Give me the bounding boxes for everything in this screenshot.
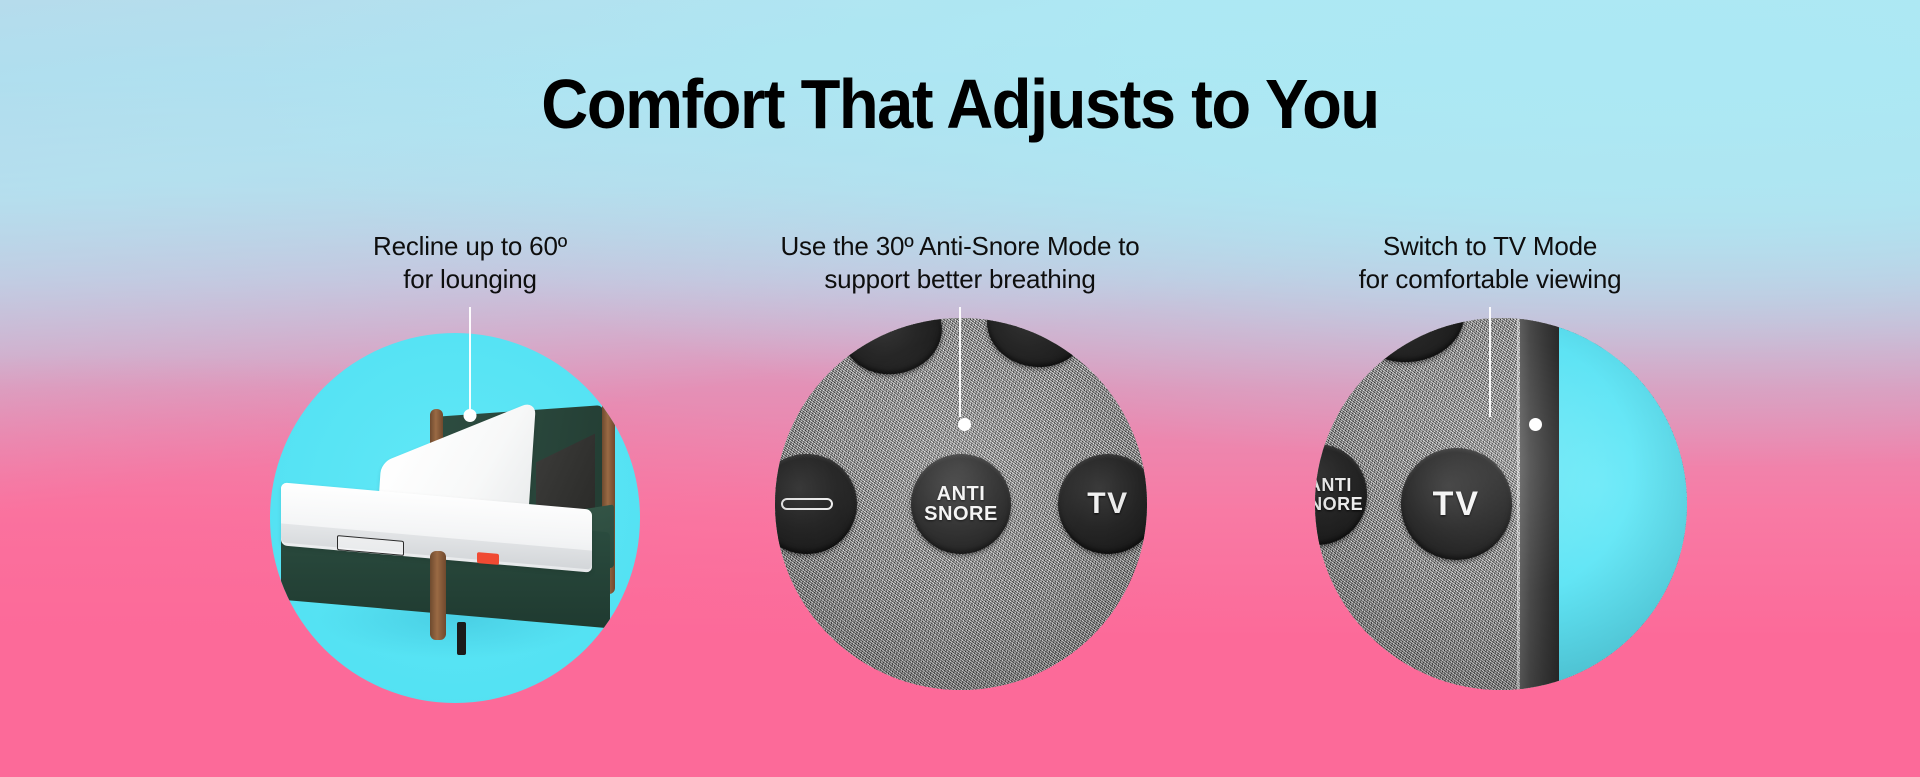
feature-panel-recline: Recline up to 60º for lounging bbox=[210, 230, 730, 417]
feature-caption-tv-mode: Switch to TV Mode for comfortable viewin… bbox=[1359, 230, 1622, 297]
pointer-line-recline bbox=[469, 307, 472, 417]
feature-caption-recline: Recline up to 60º for lounging bbox=[373, 230, 567, 297]
pointer-line bbox=[469, 307, 471, 417]
page-title: Comfort That Adjusts to You bbox=[67, 68, 1853, 142]
pointer-dot bbox=[464, 409, 477, 422]
pointer-line bbox=[959, 307, 961, 417]
feature-panel-tv-mode: Switch to TV Mode for comfortable viewin… bbox=[1230, 230, 1750, 417]
pointer-line bbox=[1489, 307, 1491, 417]
pointer-line-tv-mode bbox=[1489, 307, 1492, 417]
feature-panel-anti-snore: Use the 30º Anti-Snore Mode to support b… bbox=[700, 230, 1220, 417]
pointer-line-anti-snore bbox=[959, 307, 962, 417]
feature-caption-anti-snore: Use the 30º Anti-Snore Mode to support b… bbox=[780, 230, 1139, 297]
